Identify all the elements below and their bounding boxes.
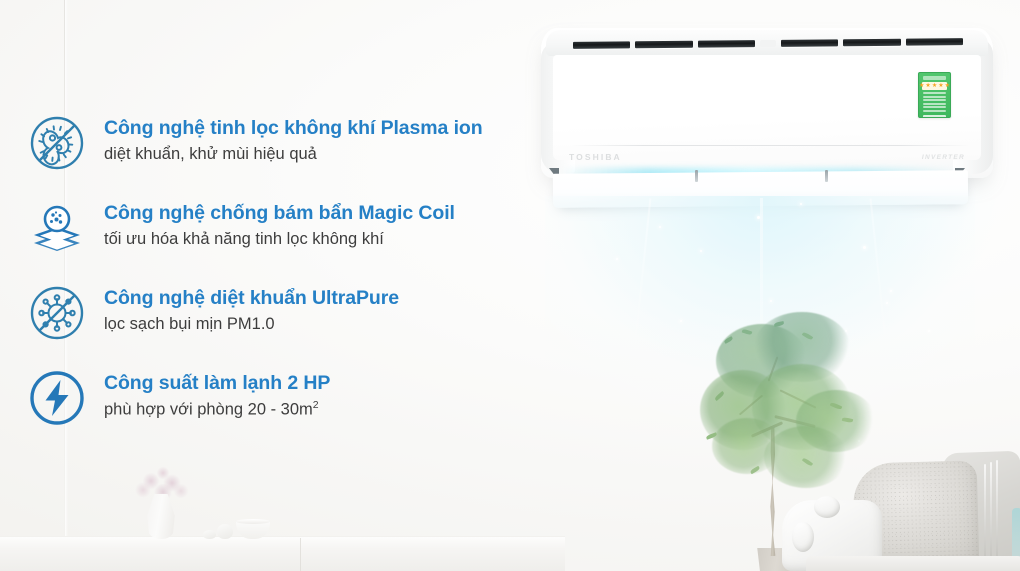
sparkle (928, 330, 930, 332)
energy-label-header (923, 76, 946, 80)
sofa (826, 448, 1020, 571)
sideboard (0, 536, 565, 571)
star-icon: ★ (938, 83, 943, 89)
no-virus-icon (26, 282, 88, 344)
energy-label-footer (923, 115, 946, 119)
feature-title: Công nghệ diệt khuẩn UltraPure (104, 286, 399, 310)
sparkle (863, 246, 866, 249)
energy-label-stars: ★ ★ ★ ★ ★ (922, 82, 947, 90)
feature-item-plasma-ion: Công nghệ tinh lọc không khí Plasma ion … (26, 108, 546, 193)
sparkle (700, 250, 702, 252)
ac-panel-seam (571, 145, 971, 146)
sparkle (659, 226, 661, 228)
star-icon: ★ (925, 83, 930, 89)
grille-slot (573, 41, 630, 49)
feature-subtitle: lọc sạch bụi mịn PM1.0 (104, 313, 399, 335)
star-icon: ★ (945, 83, 950, 89)
feature-text: Công nghệ diệt khuẩn UltraPure lọc sạch … (104, 278, 399, 336)
sparkle (757, 216, 760, 219)
flower-vase (146, 494, 176, 539)
feature-subtitle-text: phù hợp với phòng 20 - 30m (104, 401, 313, 419)
air-deflector-louver (553, 170, 968, 208)
feature-list: Công nghệ tinh lọc không khí Plasma ion … (26, 108, 546, 448)
cushion-pleat (984, 464, 986, 560)
star-icon: ★ (932, 83, 937, 89)
feature-subtitle: diệt khuẩn, khử mùi hiệu quả (104, 143, 483, 165)
sparkle (890, 290, 892, 292)
sparkle (770, 300, 772, 302)
feature-title: Công nghệ tinh lọc không khí Plasma ion (104, 116, 483, 140)
lightning-bolt-icon (26, 367, 88, 429)
louver-support-arm (825, 170, 828, 182)
room-scene: TOSHIBA INVERTER ★ ★ ★ ★ ★ (0, 0, 1020, 571)
air-conditioner-unit: TOSHIBA INVERTER ★ ★ ★ ★ ★ (541, 28, 993, 178)
feature-subtitle: phù hợp với phòng 20 - 30m2 (104, 398, 330, 421)
decor-stone (203, 530, 216, 539)
sideboard-seam (300, 538, 301, 571)
blanket-fold (792, 522, 814, 552)
grille-slot (781, 39, 838, 47)
grille-slot (635, 41, 692, 49)
feature-subtitle: tối ưu hóa khả năng tinh lọc không khí (104, 228, 455, 250)
feature-item-magic-coil: Công nghệ chống bám bẩn Magic Coil tối ư… (26, 193, 546, 278)
sparkle (680, 320, 682, 322)
toshiba-brand-logo: TOSHIBA (569, 152, 622, 162)
grille-center-tab (760, 40, 776, 47)
decor-bowl-rim (236, 519, 270, 524)
grille-slot (843, 39, 900, 47)
cushion-pleat (996, 460, 998, 560)
flower-cluster (173, 484, 189, 498)
grille-slot (906, 38, 963, 46)
star-icon: ★ (919, 83, 924, 89)
grille-slot (698, 40, 755, 48)
sparkle (616, 258, 618, 260)
feature-title: Công nghệ chống bám bẩn Magic Coil (104, 201, 455, 225)
louver-support-arm (695, 170, 698, 182)
decor-stone (217, 524, 233, 539)
feature-title: Công suất làm lạnh 2 HP (104, 371, 330, 395)
inverter-wordmark: INVERTER (922, 154, 965, 161)
feature-text: Công nghệ tinh lọc không khí Plasma ion … (104, 108, 483, 166)
flower-cluster (135, 482, 151, 498)
dust-layers-icon (26, 197, 88, 259)
light-ray (631, 198, 652, 377)
feature-subtitle-superscript: 2 (313, 399, 319, 411)
energy-efficiency-label: ★ ★ ★ ★ ★ (918, 72, 951, 118)
energy-label-rows (923, 92, 946, 112)
no-bacteria-icon (26, 112, 88, 174)
sofa-seat (806, 556, 1020, 571)
feature-text: Công nghệ chống bám bẩn Magic Coil tối ư… (104, 193, 455, 251)
blanket-fold (814, 496, 840, 518)
feature-item-cooling-capacity: Công suất làm lạnh 2 HP phù hợp với phòn… (26, 363, 546, 448)
sparkle (886, 302, 888, 304)
cushion-pleat (990, 462, 992, 560)
feature-text: Công suất làm lạnh 2 HP phù hợp với phòn… (104, 363, 330, 421)
feature-item-ultrapure: Công nghệ diệt khuẩn UltraPure lọc sạch … (26, 278, 546, 363)
